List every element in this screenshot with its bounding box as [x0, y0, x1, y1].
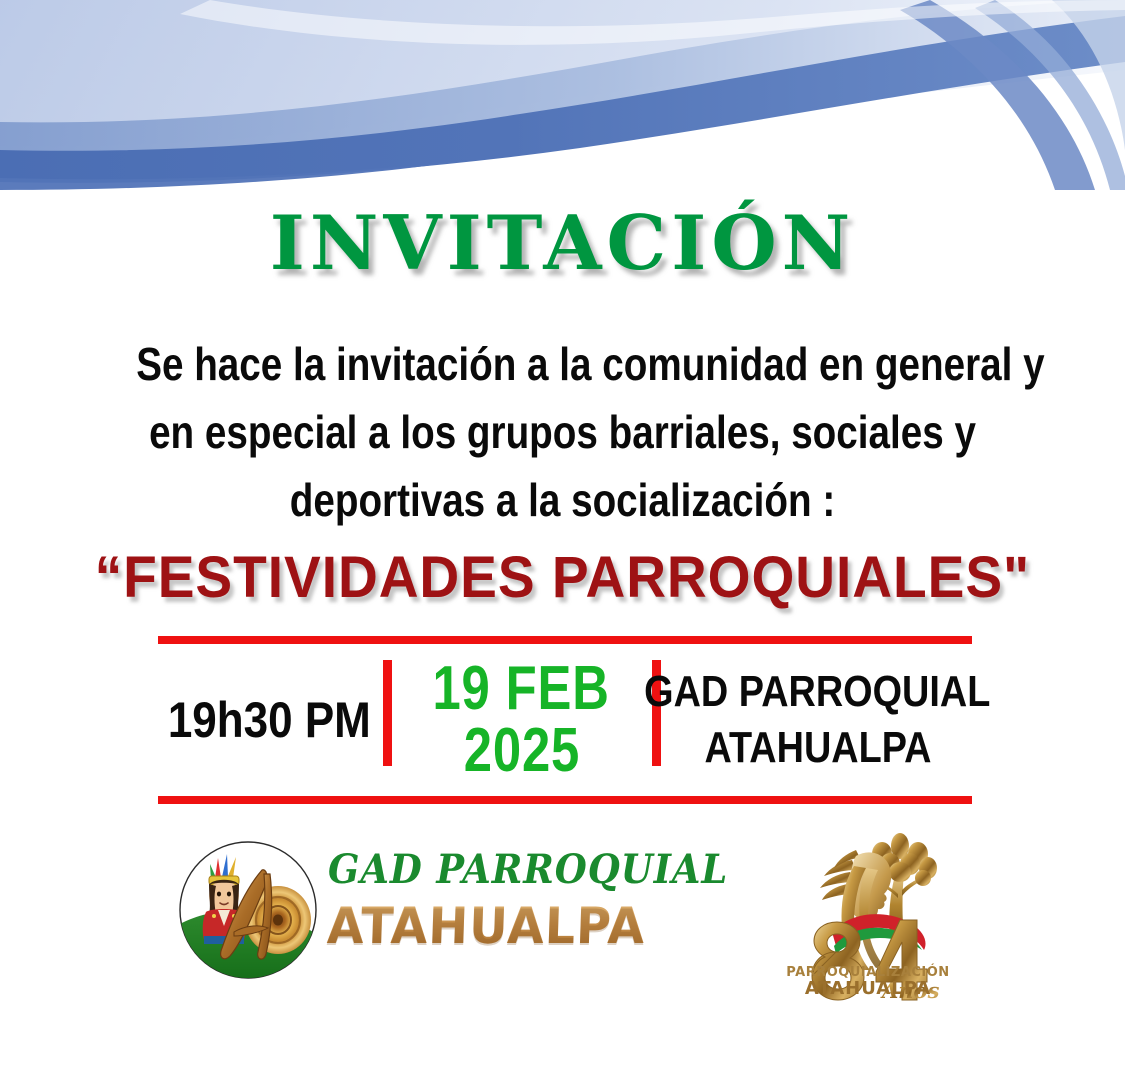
anniversary-84-gold-badge-icon: Años PARROQUIALIZACIÓN ATAHUALPA [778, 820, 958, 1020]
gad-parroquial-logo: GAD PARROQUIAL ATAHUALPA [178, 840, 678, 990]
anniversary-caption: PARROQUIALIZACIÓN ATAHUALPA [778, 966, 958, 999]
organizer-line-2: ATAHUALPA [704, 720, 931, 776]
logos-row: GAD PARROQUIAL ATAHUALPA [0, 820, 1125, 1040]
blue-wave-header-decoration [0, 0, 1125, 190]
details-divider-1 [383, 660, 392, 766]
title-block: INVITACIÓN [0, 206, 1125, 281]
event-time: 19h30 PM [168, 691, 371, 749]
gad-wordmark: GAD PARROQUIAL ATAHUALPA [328, 846, 678, 986]
event-organizer-column: GAD PARROQUIAL ATAHUALPA [663, 644, 972, 796]
invitation-body-text: Se hace la invitación a la comunidad en … [136, 330, 989, 534]
page-title: INVITACIÓN [270, 206, 855, 281]
body-line-1: Se hace la invitación a la comunidad en … [136, 330, 989, 398]
event-date-column: 19 FEB 2025 [394, 644, 649, 796]
atahualpa-circular-emblem-icon [178, 840, 318, 980]
details-top-rule [158, 636, 972, 644]
emblem-graphic-icon [178, 840, 318, 980]
event-date-day: 19 FEB [433, 658, 610, 720]
gad-logo-line-1: GAD PARROQUIAL [328, 846, 650, 893]
gad-logo-line-2: ATAHUALPA [326, 897, 660, 955]
wave-graphic-icon [0, 0, 1125, 190]
anniversary-caption-line-2: ATAHUALPA [778, 980, 958, 999]
invitation-poster: INVITACIÓN Se hace la invitación a la co… [0, 0, 1125, 1079]
event-date-year: 2025 [463, 720, 579, 782]
body-line-2: en especial a los grupos barriales, soci… [136, 398, 989, 466]
event-heading: “FESTIVIDADES PARROQUIALES" [0, 548, 1125, 609]
body-line-3: deportivas a la socialización : [136, 466, 989, 534]
details-bottom-rule [158, 796, 972, 804]
organizer-line-1: GAD PARROQUIAL [644, 664, 990, 720]
event-details-strip: 19h30 PM 19 FEB 2025 GAD PARROQUIAL ATAH… [158, 636, 972, 804]
event-heading-text: “FESTIVIDADES PARROQUIALES" [95, 548, 1031, 609]
event-time-column: 19h30 PM [158, 644, 380, 796]
